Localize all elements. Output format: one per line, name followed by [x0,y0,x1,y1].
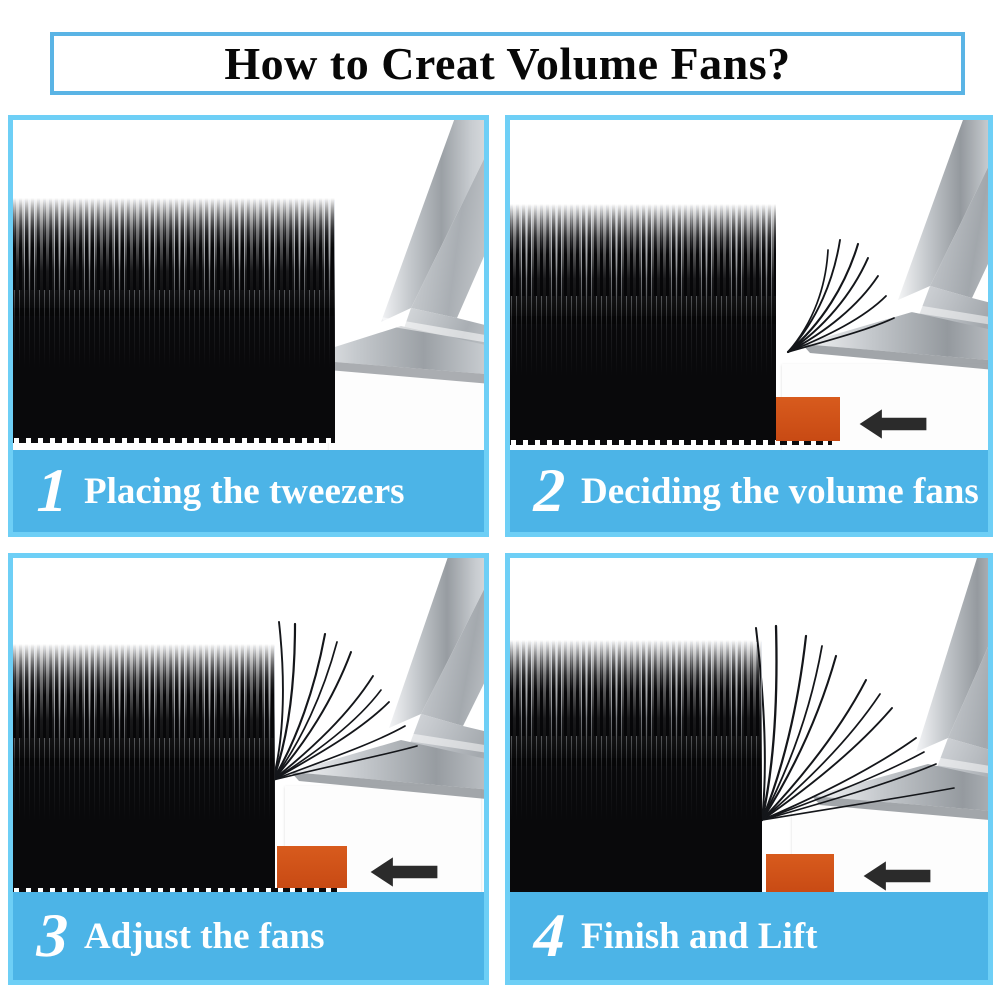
step-4-photo [510,558,988,892]
step-3-label: Adjust the fans [84,918,325,955]
step-1-photo [13,120,484,450]
page-title: How to Creat Volume Fans? [224,41,790,87]
step-2-caption: 2 Deciding the volume fans [510,450,988,532]
infographic-root: How to Creat Volume Fans? [0,0,1001,1001]
volume-fan-wide-icon [742,616,982,826]
left-arrow-icon [862,860,932,892]
orange-tab-icon [776,397,840,441]
step-1-label: Placing the tweezers [84,473,405,510]
step-panel-3: 3 Adjust the fans [8,553,489,985]
step-1-caption: 1 Placing the tweezers [13,450,484,532]
volume-fan-medium-icon [255,616,445,786]
left-arrow-icon [858,408,928,440]
step-3-photo [13,558,484,892]
step-4-number: 4 [533,905,566,967]
step-2-photo [510,120,988,450]
step-1-number: 1 [36,460,69,522]
title-box: How to Creat Volume Fans? [50,32,965,95]
orange-tab-icon [277,846,347,888]
step-4-label: Finish and Lift [581,918,817,955]
step-4-caption: 4 Finish and Lift [510,892,988,980]
step-panel-4: 4 Finish and Lift [505,553,993,985]
lash-tape-baseline [13,438,335,443]
step-panel-1: 1 Placing the tweezers [8,115,489,537]
orange-tab-icon [766,854,834,892]
step-2-label: Deciding the volume fans [581,473,979,510]
step-2-number: 2 [533,460,566,522]
step-3-number: 3 [36,905,69,967]
volume-fan-narrow-icon [772,228,912,358]
left-arrow-icon [369,856,439,888]
step-3-caption: 3 Adjust the fans [13,892,484,980]
step-panel-2: 2 Deciding the volume fans [505,115,993,537]
